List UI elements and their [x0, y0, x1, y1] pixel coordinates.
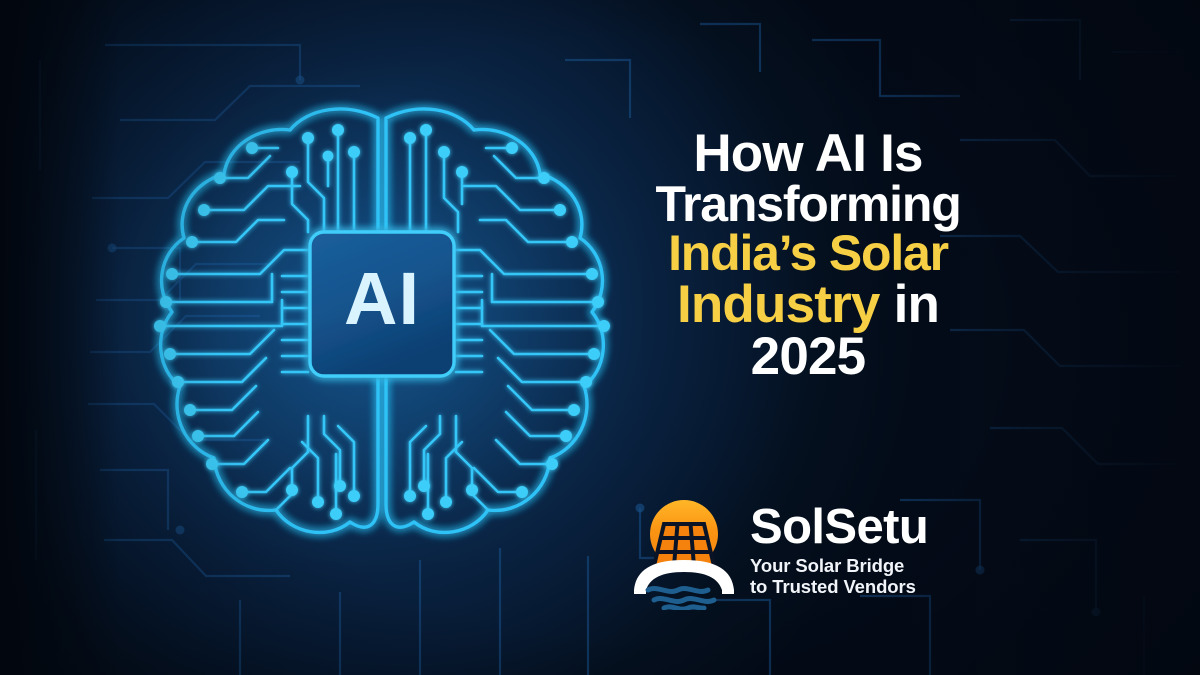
- title-highlight-industry: Industry: [677, 275, 880, 334]
- banner-canvas: AI How AI Is Transforming India’s Solar …: [0, 0, 1200, 675]
- logo-brand-name: SolSetu: [750, 503, 928, 552]
- title-word-in: in: [894, 275, 940, 334]
- solar-panel-grid: [654, 524, 714, 566]
- title-line-3: India’s Solar: [608, 229, 1008, 278]
- title-line-2: Transforming: [608, 180, 1008, 229]
- background-left-vignette: [0, 0, 120, 675]
- logo-text-block: SolSetu Your Solar Bridge to Trusted Ven…: [750, 503, 928, 598]
- solsetu-logo[interactable]: SolSetu Your Solar Bridge to Trusted Ven…: [630, 490, 928, 610]
- logo-tagline-line-2: to Trusted Vendors: [750, 576, 928, 597]
- title-line-5: 2025: [608, 331, 1008, 383]
- page-title: How AI Is Transforming India’s Solar Ind…: [608, 128, 1008, 383]
- logo-tagline-line-1: Your Solar Bridge: [750, 555, 928, 576]
- title-line-4: Industry in: [608, 279, 1008, 331]
- ai-brain-graphic: AI: [132, 86, 632, 556]
- brain-circuit-svg: AI: [132, 86, 632, 556]
- ai-chip-label: AI: [344, 257, 420, 340]
- water-waves: [648, 589, 714, 610]
- title-line-1: How AI Is: [608, 128, 1008, 180]
- solsetu-sun-bridge-logo-icon: [630, 490, 738, 610]
